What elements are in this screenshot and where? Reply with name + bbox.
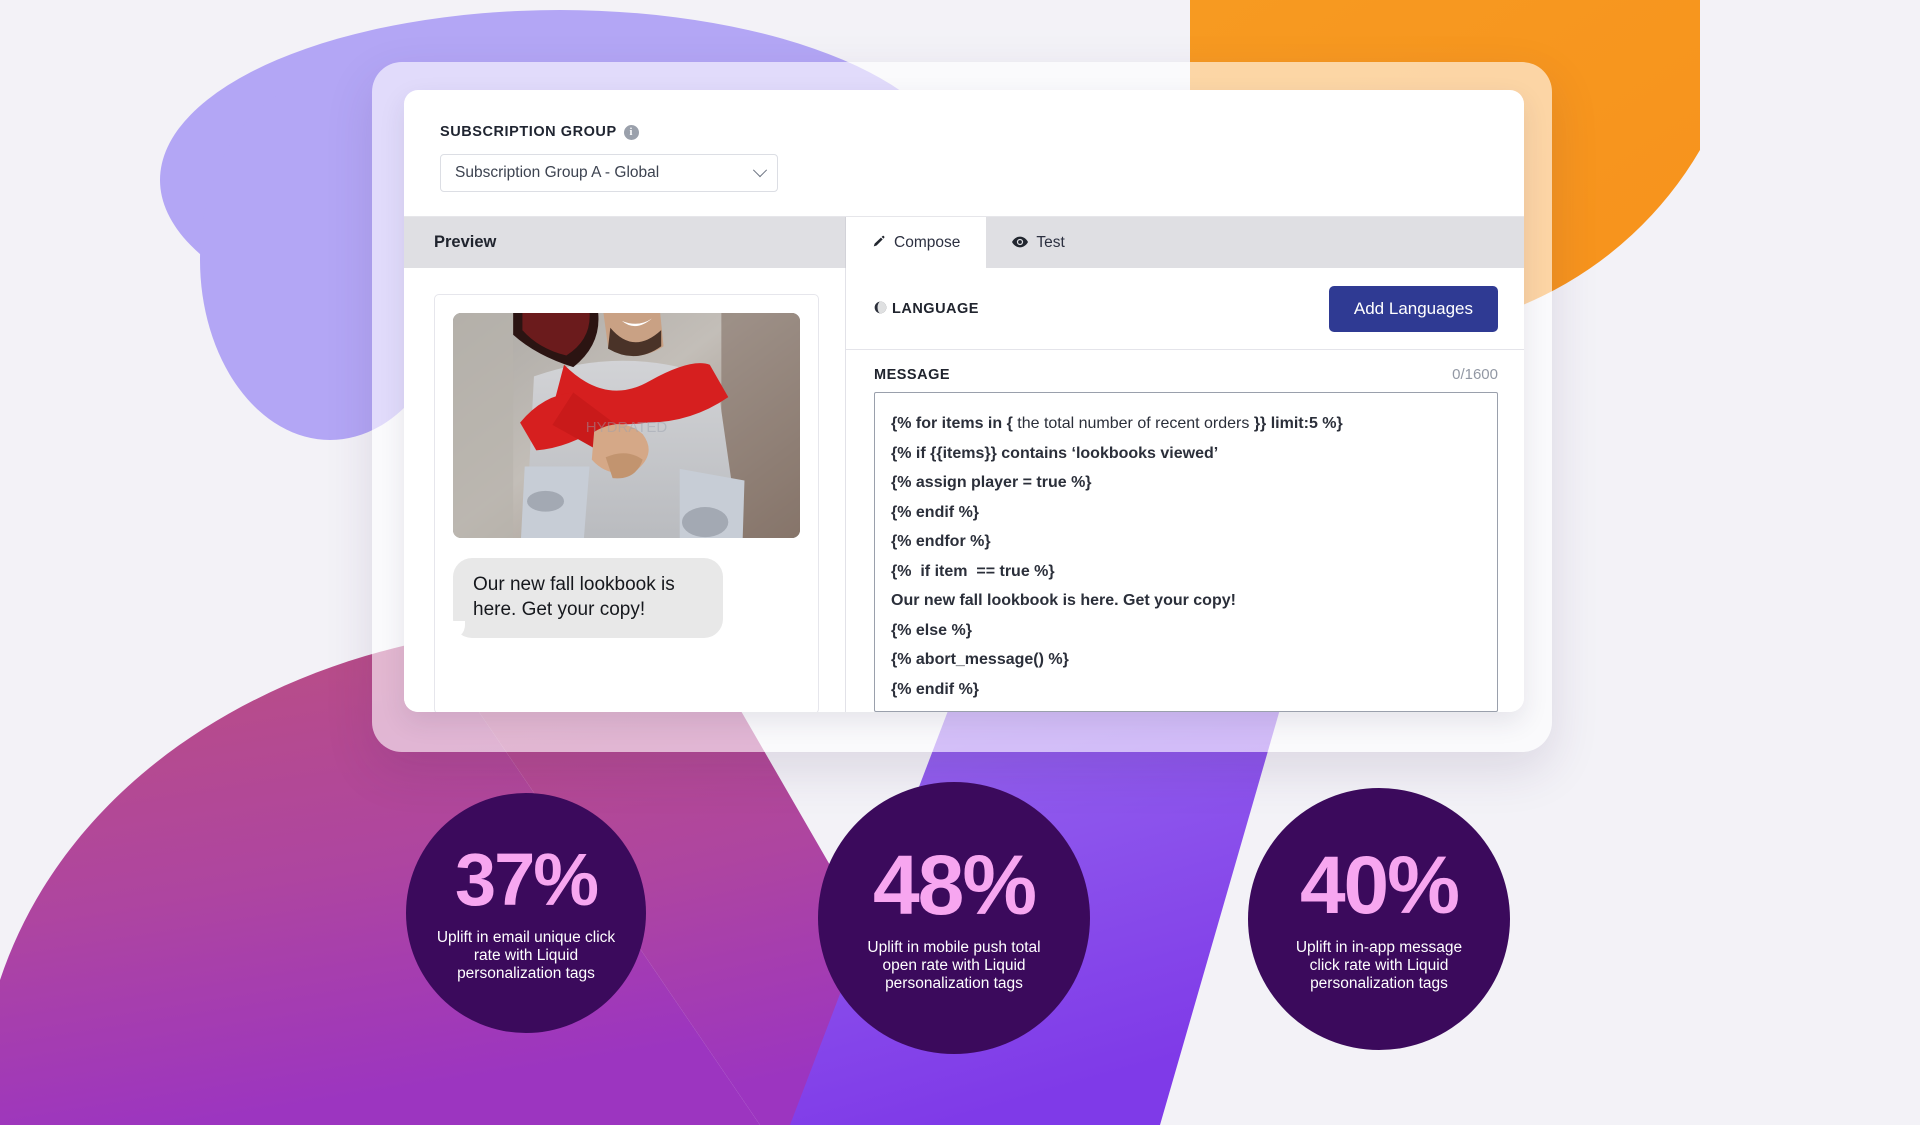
info-icon[interactable]: i	[624, 125, 639, 140]
tab-list: Compose Test	[846, 217, 1524, 268]
message-header: MESSAGE 0/1600	[874, 366, 1498, 392]
language-label: LANGUAGE	[874, 301, 979, 317]
subscription-group-select[interactable]: Subscription Group A - Global	[440, 154, 778, 192]
message-section: MESSAGE 0/1600 {% for items in { the tot…	[846, 350, 1524, 712]
pencil-icon-svg	[872, 235, 886, 249]
stat-value-1: 37%	[455, 843, 597, 917]
stat-circle-3: 40% Uplift in in-app message click rate …	[1248, 788, 1510, 1050]
preview-bubble-wrap: Our new fall lookbook is here. Get your …	[453, 558, 800, 638]
subscription-group-label-text: SUBSCRIPTION GROUP	[440, 124, 617, 140]
screenshot-root: SUBSCRIPTION GROUP i Subscription Group …	[0, 0, 1920, 1125]
message-code-line: {% if {{items}} contains ‘lookbooks view…	[891, 439, 1481, 469]
tab-compose-label: Compose	[894, 234, 960, 252]
message-code-line: {% abort_message() %}	[891, 645, 1481, 675]
preview-pane: HYDRATED Our new fall lookbook is here. …	[404, 268, 846, 712]
character-counter: 0/1600	[1452, 366, 1498, 383]
preview-message-card: HYDRATED Our new fall lookbook is here. …	[434, 294, 819, 712]
chevron-down-icon	[753, 163, 767, 177]
message-code-line: {% assign player = true %}	[891, 468, 1481, 498]
eye-icon	[1012, 236, 1028, 250]
stat-caption-2: Uplift in mobile push total open rate wi…	[850, 939, 1058, 994]
globe-icon-svg	[874, 301, 887, 314]
stat-caption-3: Uplift in in-app message click rate with…	[1279, 939, 1479, 994]
stat-caption-1: Uplift in email unique click rate with L…	[436, 929, 616, 984]
svg-text:HYDRATED: HYDRATED	[586, 419, 668, 436]
stat-value-2: 48%	[873, 843, 1035, 927]
language-row: LANGUAGE Add Languages	[846, 268, 1524, 350]
stat-circle-1: 37% Uplift in email unique click rate wi…	[406, 793, 646, 1033]
eye-icon-svg	[1012, 236, 1028, 248]
message-code-line: {% else %}	[891, 616, 1481, 646]
app-card: SUBSCRIPTION GROUP i Subscription Group …	[404, 90, 1524, 712]
stat-value-3: 40%	[1300, 845, 1458, 927]
preview-photo-illustration: HYDRATED	[453, 313, 800, 538]
subscription-group-label: SUBSCRIPTION GROUP i	[440, 124, 1524, 140]
stat-circle-2: 48% Uplift in mobile push total open rat…	[818, 782, 1090, 1054]
tab-test-label: Test	[1036, 234, 1064, 252]
compose-pane: LANGUAGE Add Languages MESSAGE 0/1600 {%…	[846, 268, 1524, 712]
pencil-icon	[872, 235, 886, 251]
tab-strip: Preview Compose	[404, 216, 1524, 268]
message-code-line: {% endfor %}	[891, 527, 1481, 557]
message-code-line: {% for items in { the total number of re…	[891, 409, 1481, 439]
add-languages-button[interactable]: Add Languages	[1329, 286, 1498, 332]
message-code-line: {% endif %}	[891, 675, 1481, 705]
message-code-line: {% if item == true %}	[891, 557, 1481, 587]
tab-test[interactable]: Test	[986, 217, 1090, 268]
preview-pane-header: Preview	[404, 217, 846, 268]
message-code-line: Our new fall lookbook is here. Get your …	[891, 586, 1481, 616]
language-label-text: LANGUAGE	[892, 301, 979, 317]
tab-compose[interactable]: Compose	[846, 217, 986, 268]
message-label: MESSAGE	[874, 367, 950, 383]
subscription-group-value: Subscription Group A - Global	[455, 164, 659, 182]
message-textarea[interactable]: {% for items in { the total number of re…	[874, 392, 1498, 712]
preview-message-bubble: Our new fall lookbook is here. Get your …	[453, 558, 723, 638]
globe-icon	[874, 301, 887, 316]
message-code-line: {% endif %}	[891, 498, 1481, 528]
subscription-group-section: SUBSCRIPTION GROUP i Subscription Group …	[404, 90, 1524, 192]
card-body: HYDRATED Our new fall lookbook is here. …	[404, 268, 1524, 712]
preview-photo: HYDRATED	[453, 313, 800, 538]
